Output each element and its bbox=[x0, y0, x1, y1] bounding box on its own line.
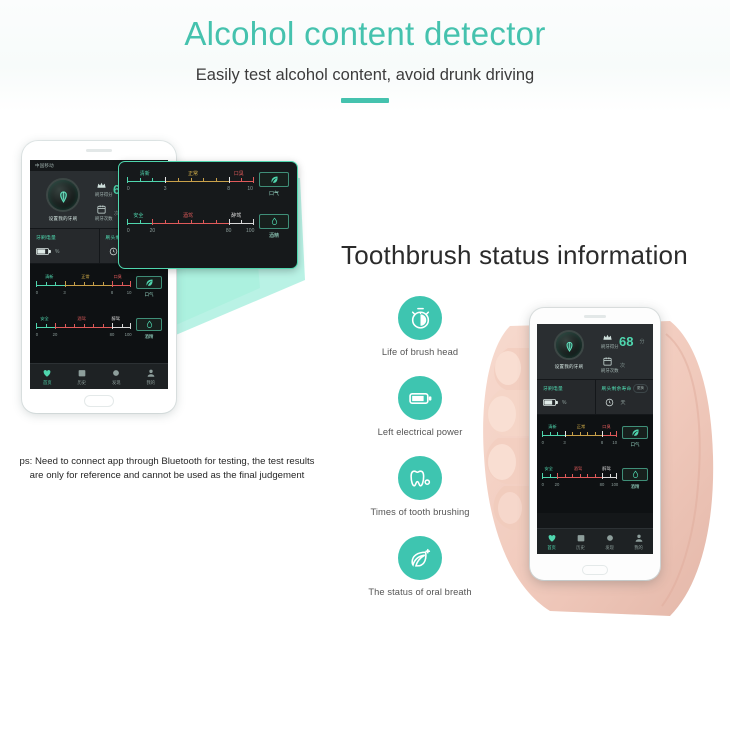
phone-mockup-right: 设置我的牙刷 刷牙得分 68 分 bbox=[530, 308, 660, 580]
alcohol-tick-2: 80 bbox=[600, 482, 605, 487]
leaf-icon bbox=[136, 276, 162, 289]
breath-gauge-labels: 0 3 8 10 bbox=[542, 440, 617, 446]
nav-label-history: 历史 bbox=[566, 545, 595, 551]
breath-tag-2: 口臭 bbox=[601, 424, 611, 430]
callout-alcohol-tick-0: 0 bbox=[127, 228, 130, 234]
leaf-icon bbox=[622, 426, 648, 439]
home-button[interactable] bbox=[582, 565, 608, 575]
frequency-unit: 次 bbox=[620, 362, 625, 369]
battery-icon bbox=[398, 376, 442, 420]
callout-alcohol-button-label: 酒精 bbox=[259, 232, 289, 239]
feature-item-power: Left electrical power bbox=[352, 376, 488, 437]
gauges-section-right: 清新 正常 口臭 bbox=[537, 415, 653, 513]
alcohol-tick-0: 0 bbox=[542, 482, 544, 487]
callout-breath-row: 清新 正常 口臭 0 bbox=[127, 170, 289, 198]
nav-label-discover: 发现 bbox=[99, 380, 134, 386]
title-underline bbox=[341, 98, 389, 103]
alcohol-tag-0: 安全 bbox=[39, 316, 49, 322]
droplet-icon bbox=[259, 214, 289, 229]
alcohol-tick-0: 0 bbox=[36, 332, 38, 337]
battery-icon bbox=[543, 398, 558, 407]
calendar-icon bbox=[576, 533, 586, 543]
breath-tick-1: 3 bbox=[63, 290, 65, 295]
alcohol-gauge-ruler bbox=[36, 324, 131, 331]
battery-card-unit: % bbox=[55, 249, 59, 255]
callout-breath-gauge: 清新 正常 口臭 0 bbox=[127, 170, 254, 198]
app-header-section: 设置我的牙刷 刷牙得分 68 分 bbox=[537, 324, 653, 380]
callout-alcohol-gauge: 安全 酒驾 醉驾 bbox=[127, 212, 254, 240]
alcohol-gauge-tags: 安全 酒驾 醉驾 bbox=[542, 466, 617, 473]
alcohol-gauge-labels: 0 20 80 100 bbox=[542, 482, 617, 488]
breath-tick-3: 10 bbox=[127, 290, 132, 295]
section-title: Toothbrush status information bbox=[341, 240, 688, 271]
crown-icon: 刷牙得分 bbox=[95, 180, 108, 198]
breath-gauge-row: 清新 正常 口臭 bbox=[542, 424, 648, 450]
disclaimer-note: ps: Need to connect app through Bluetoot… bbox=[8, 455, 326, 483]
nav-item-history[interactable]: 历史 bbox=[566, 533, 595, 551]
nav-item-home[interactable]: 首页 bbox=[537, 533, 566, 551]
callout-breath-tick-1: 3 bbox=[164, 186, 167, 192]
battery-icon bbox=[36, 247, 51, 256]
app-stats-column: 刷牙得分 68 分 刷牙次数 次 bbox=[601, 330, 647, 374]
calendar-icon: 刷牙次数 bbox=[601, 356, 614, 374]
score-unit: 分 bbox=[639, 338, 644, 345]
battery-card[interactable]: 牙刷电量 % bbox=[537, 380, 595, 414]
replace-chip[interactable]: 更换 bbox=[633, 384, 648, 393]
callout-alcohol-labels: 0 20 80 100 bbox=[127, 228, 254, 234]
stat-cards-row: 牙刷电量 % 刷头剩余寿命 更换 bbox=[537, 380, 653, 415]
alcohol-tag-2: 醉驾 bbox=[111, 316, 121, 322]
callout-breath-tag-1: 正常 bbox=[187, 170, 199, 177]
breath-test-button[interactable]: 口气 bbox=[622, 426, 648, 448]
heart-icon bbox=[547, 533, 557, 543]
callout-alcohol-ruler bbox=[127, 220, 254, 227]
nav-item-profile[interactable]: 我的 bbox=[624, 533, 653, 551]
status-bar-carrier: 中国移动 bbox=[35, 163, 54, 169]
callout-breath-tick-3: 10 bbox=[247, 186, 253, 192]
brush-setup-button[interactable]: 设置我的牙刷 bbox=[543, 330, 595, 374]
breath-tag-2: 口臭 bbox=[112, 274, 122, 280]
battery-card-body: % bbox=[543, 398, 589, 407]
nav-label-history: 历史 bbox=[65, 380, 100, 386]
fresh-leaf-icon bbox=[398, 536, 442, 580]
callout-alcohol-tags: 安全 酒驾 醉驾 bbox=[127, 212, 254, 219]
battery-card-title: 牙刷电量 bbox=[543, 385, 589, 392]
nav-item-history[interactable]: 历史 bbox=[65, 368, 100, 386]
home-button[interactable] bbox=[84, 395, 114, 407]
breath-tick-2: 8 bbox=[111, 290, 113, 295]
feature-label-power: Left electrical power bbox=[352, 427, 488, 437]
callout-breath-tag-2: 口臭 bbox=[233, 170, 245, 177]
breath-tag-1: 正常 bbox=[80, 274, 90, 280]
bottom-nav-right: 首页 历史 发现 我的 bbox=[537, 528, 653, 554]
callout-breath-tick-0: 0 bbox=[127, 186, 130, 192]
alcohol-gauge-tags: 安全 酒驾 醉驾 bbox=[36, 316, 131, 323]
callout-breath-tick-2: 8 bbox=[227, 186, 230, 192]
eye-icon bbox=[111, 368, 121, 378]
feature-item-oral-breath: The status of oral breath bbox=[352, 536, 488, 597]
breath-gauge[interactable]: 清新 正常 口臭 bbox=[36, 274, 131, 300]
score-caption: 刷牙得分 bbox=[601, 344, 614, 350]
callout-breath-button-label: 口气 bbox=[259, 190, 289, 197]
battery-card-unit: % bbox=[562, 400, 566, 406]
breath-tick-0: 0 bbox=[542, 440, 544, 445]
callout-alcohol-tag-0: 安全 bbox=[132, 212, 144, 219]
frequency-caption: 刷牙次数 bbox=[95, 216, 108, 222]
alcohol-tag-1: 酒驾 bbox=[76, 316, 86, 322]
alcohol-tick-1: 20 bbox=[53, 332, 58, 337]
alcohol-test-button[interactable]: 酒精 bbox=[136, 318, 162, 340]
breath-tag-0: 清新 bbox=[44, 274, 54, 280]
product-marketing-page: Alcohol content detector Easily test alc… bbox=[0, 0, 730, 730]
score-row: 刷牙得分 68 分 bbox=[601, 332, 647, 350]
breath-gauge-tags: 清新 正常 口臭 bbox=[542, 424, 617, 431]
breath-gauge-tags: 清新 正常 口臭 bbox=[36, 274, 131, 281]
callout-alcohol-row: 安全 酒驾 醉驾 bbox=[127, 212, 289, 240]
earpiece-speaker bbox=[86, 149, 112, 152]
score-value: 68 bbox=[619, 335, 633, 348]
brush-setup-label: 设置我的牙刷 bbox=[37, 216, 89, 222]
droplet-icon bbox=[136, 318, 162, 331]
alcohol-test-button[interactable]: 酒精 bbox=[622, 468, 648, 490]
breath-tag-1: 正常 bbox=[576, 424, 586, 430]
tooth-logo-icon bbox=[554, 330, 584, 360]
tooth-icon bbox=[398, 456, 442, 500]
nav-label-profile: 我的 bbox=[134, 380, 169, 386]
breath-tag-0: 清新 bbox=[547, 424, 557, 430]
stopwatch-icon bbox=[398, 296, 442, 340]
brush-setup-button[interactable]: 设置我的牙刷 bbox=[37, 178, 89, 222]
nav-label-profile: 我的 bbox=[624, 545, 653, 551]
feature-label-brushing-times: Times of tooth brushing bbox=[352, 507, 488, 517]
feature-item-brushing-times: Times of tooth brushing bbox=[352, 456, 488, 517]
app-screen-right: 设置我的牙刷 刷牙得分 68 分 bbox=[537, 324, 653, 554]
alcohol-tick-3: 100 bbox=[125, 332, 132, 337]
score-caption: 刷牙得分 bbox=[95, 192, 108, 198]
nav-label-discover: 发现 bbox=[595, 545, 624, 551]
alcohol-gauge[interactable]: 安全 酒驾 醉驾 bbox=[36, 316, 131, 342]
nav-item-home[interactable]: 首页 bbox=[30, 368, 65, 386]
clock-icon bbox=[602, 398, 617, 407]
alcohol-tag-0: 安全 bbox=[544, 466, 554, 472]
nav-item-discover[interactable]: 发现 bbox=[99, 368, 134, 386]
alcohol-tag-2: 醉驾 bbox=[601, 466, 611, 472]
frequency-row: 刷牙次数 次 bbox=[601, 356, 647, 374]
alcohol-gauge-row: 安全 酒驾 醉驾 bbox=[542, 466, 648, 492]
breath-gauge[interactable]: 清新 正常 口臭 bbox=[542, 424, 617, 450]
nav-item-discover[interactable]: 发现 bbox=[595, 533, 624, 551]
feature-item-brush-life: Life of brush head bbox=[352, 296, 488, 357]
alcohol-tick-1: 20 bbox=[555, 482, 560, 487]
breath-tick-0: 0 bbox=[36, 290, 38, 295]
person-icon bbox=[146, 368, 156, 378]
breath-gauge-ruler bbox=[36, 282, 131, 289]
nav-label-home: 首页 bbox=[30, 380, 65, 386]
leaf-icon bbox=[259, 172, 289, 187]
person-icon bbox=[634, 533, 644, 543]
frequency-caption: 刷牙次数 bbox=[601, 368, 614, 374]
breath-gauge-row: 清新 正常 口臭 bbox=[36, 274, 162, 300]
breath-button-label: 口气 bbox=[622, 442, 648, 448]
breath-tick-3: 10 bbox=[612, 440, 617, 445]
earpiece-speaker bbox=[584, 315, 606, 318]
bottom-nav-left: 首页 历史 发现 我的 bbox=[30, 363, 168, 389]
battery-card[interactable]: 牙刷电量 % bbox=[30, 229, 99, 263]
alcohol-gauge[interactable]: 安全 酒驾 醉驾 bbox=[542, 466, 617, 492]
alcohol-gauge-labels: 0 20 80 100 bbox=[36, 332, 131, 338]
calendar-icon: 刷牙次数 bbox=[95, 204, 108, 222]
brush-life-card-unit: 天 bbox=[621, 399, 626, 406]
callout-alcohol-button[interactable]: 酒精 bbox=[259, 214, 289, 239]
breath-gauge-labels: 0 3 8 10 bbox=[36, 290, 131, 296]
callout-alcohol-tick-2: 80 bbox=[226, 228, 232, 234]
disclaimer-line-2: are only for reference and cannot be use… bbox=[8, 469, 326, 483]
callout-breath-ruler bbox=[127, 178, 254, 185]
brush-life-card[interactable]: 刷头剩余寿命 更换 天 bbox=[595, 380, 654, 414]
callout-breath-button[interactable]: 口气 bbox=[259, 172, 289, 197]
callout-breath-tag-0: 清新 bbox=[139, 170, 151, 177]
feature-label-oral-breath: The status of oral breath bbox=[352, 587, 488, 597]
battery-card-title: 牙刷电量 bbox=[36, 234, 93, 241]
breath-tick-2: 8 bbox=[601, 440, 603, 445]
callout-alcohol-tag-1: 酒驾 bbox=[182, 212, 194, 219]
callout-alcohol-tick-3: 100 bbox=[246, 228, 254, 234]
breath-button-label: 口气 bbox=[136, 292, 162, 298]
alcohol-tick-3: 100 bbox=[611, 482, 618, 487]
calendar-icon bbox=[77, 368, 87, 378]
alcohol-gauge-row: 安全 酒驾 醉驾 bbox=[36, 316, 162, 342]
nav-label-home: 首页 bbox=[537, 545, 566, 551]
brush-life-card-body: 天 bbox=[602, 398, 648, 407]
tooth-logo-icon bbox=[46, 178, 80, 212]
magnified-gauges-callout: 清新 正常 口臭 0 bbox=[118, 161, 298, 269]
breath-tick-1: 3 bbox=[563, 440, 565, 445]
battery-card-body: % bbox=[36, 247, 93, 256]
alcohol-button-label: 酒精 bbox=[622, 484, 648, 490]
disclaimer-line-1: ps: Need to connect app through Bluetoot… bbox=[20, 456, 315, 467]
page-title: Alcohol content detector bbox=[0, 0, 730, 56]
callout-alcohol-tag-2: 醉驾 bbox=[230, 212, 242, 219]
alcohol-gauge-ruler bbox=[542, 474, 617, 481]
alcohol-tick-2: 80 bbox=[110, 332, 115, 337]
heart-icon bbox=[42, 368, 52, 378]
alcohol-button-label: 酒精 bbox=[136, 334, 162, 340]
breath-test-button[interactable]: 口气 bbox=[136, 276, 162, 298]
eye-icon bbox=[605, 533, 615, 543]
callout-breath-tags: 清新 正常 口臭 bbox=[127, 170, 254, 177]
page-header: Alcohol content detector Easily test alc… bbox=[0, 0, 730, 112]
callout-breath-labels: 0 3 8 10 bbox=[127, 186, 254, 192]
brush-setup-label: 设置我的牙刷 bbox=[543, 364, 595, 370]
breath-gauge-ruler bbox=[542, 432, 617, 439]
page-subtitle: Easily test alcohol content, avoid drunk… bbox=[0, 64, 730, 86]
callout-alcohol-tick-1: 20 bbox=[150, 228, 156, 234]
feature-label-brush-life: Life of brush head bbox=[352, 347, 488, 357]
alcohol-tag-1: 酒驾 bbox=[573, 466, 583, 472]
nav-item-profile[interactable]: 我的 bbox=[134, 368, 169, 386]
crown-icon: 刷牙得分 bbox=[601, 332, 614, 350]
droplet-icon bbox=[622, 468, 648, 481]
gauges-section-left: 清新 正常 口臭 bbox=[30, 264, 168, 364]
